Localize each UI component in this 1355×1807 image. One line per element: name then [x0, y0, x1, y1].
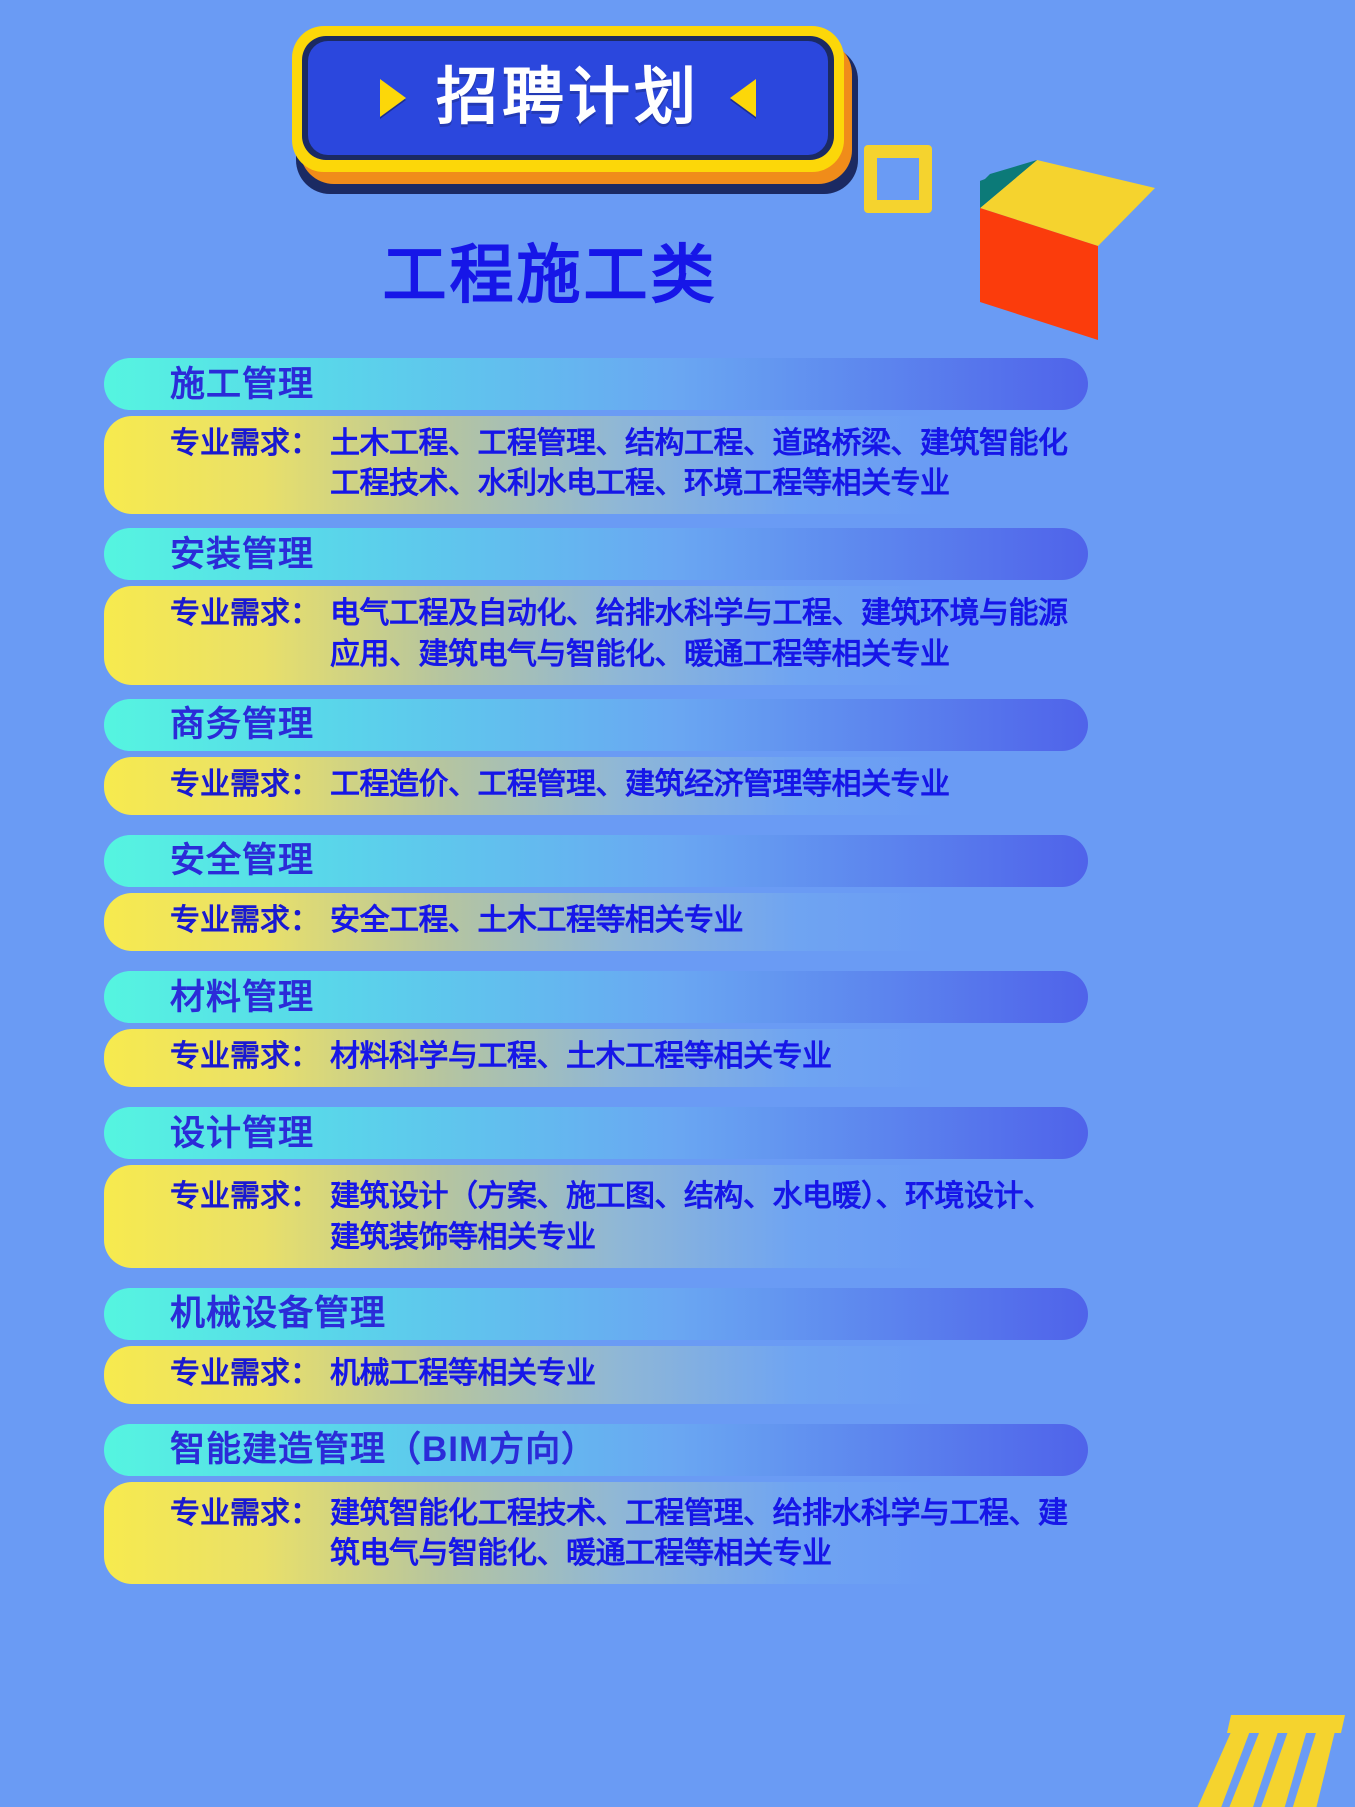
section-title: 施工管理	[170, 367, 314, 402]
requirement-label: 专业需求：	[170, 1177, 320, 1217]
section-title: 机械设备管理	[170, 1296, 386, 1331]
section-pill: 设计管理	[104, 1107, 1088, 1159]
triangle-left-icon	[730, 79, 756, 117]
requirement-majors: 建筑智能化工程技术、工程管理、给排水科学与工程、建筑电气与智能化、暖通工程等相关…	[330, 1494, 1072, 1574]
section-detail: 专业需求： 建筑设计（方案、施工图、结构、水电暖）、环境设计、建筑装饰等相关专业	[104, 1165, 1094, 1267]
badge-blue-panel: 招聘计划	[308, 41, 828, 155]
section-block: 商务管理 专业需求： 工程造价、工程管理、建筑经济管理等相关专业	[0, 699, 1355, 815]
section-pill: 安全管理	[104, 835, 1088, 887]
requirement-majors: 安全工程、土木工程等相关专业	[330, 901, 743, 941]
section-pill: 智能建造管理（BIM方向）	[104, 1424, 1088, 1476]
section-pill: 施工管理	[104, 358, 1088, 410]
badge-title: 招聘计划	[436, 67, 700, 129]
requirement-majors: 建筑设计（方案、施工图、结构、水电暖）、环境设计、建筑装饰等相关专业	[330, 1177, 1072, 1257]
requirement-majors: 材料科学与工程、土木工程等相关专业	[330, 1037, 832, 1077]
section-detail: 专业需求： 材料科学与工程、土木工程等相关专业	[104, 1029, 1094, 1087]
section-detail: 专业需求： 工程造价、工程管理、建筑经济管理等相关专业	[104, 757, 1094, 815]
section-block: 材料管理 专业需求： 材料科学与工程、土木工程等相关专业	[0, 971, 1355, 1087]
section-detail: 专业需求： 电气工程及自动化、给排水科学与工程、建筑环境与能源应用、建筑电气与智…	[104, 586, 1094, 684]
requirement-label: 专业需求：	[170, 1037, 320, 1077]
requirement-label: 专业需求：	[170, 765, 320, 805]
section-detail: 专业需求： 建筑智能化工程技术、工程管理、给排水科学与工程、建筑电气与智能化、暖…	[104, 1482, 1094, 1584]
section-title: 安全管理	[170, 843, 314, 878]
requirement-label: 专业需求：	[170, 594, 320, 634]
requirement-label: 专业需求：	[170, 901, 320, 941]
section-detail: 专业需求： 机械工程等相关专业	[104, 1346, 1094, 1404]
requirement-label: 专业需求：	[170, 424, 320, 464]
requirement-label: 专业需求：	[170, 1354, 320, 1394]
section-title: 材料管理	[170, 980, 314, 1015]
category-title: 工程施工类	[0, 240, 1100, 310]
section-title: 智能建造管理（BIM方向）	[170, 1432, 597, 1467]
section-block: 机械设备管理 专业需求： 机械工程等相关专业	[0, 1288, 1355, 1404]
triangle-right-icon	[380, 79, 406, 117]
requirement-majors: 工程造价、工程管理、建筑经济管理等相关专业	[330, 765, 950, 805]
section-title: 设计管理	[170, 1116, 314, 1151]
section-pill: 商务管理	[104, 699, 1088, 751]
section-block: 智能建造管理（BIM方向） 专业需求： 建筑智能化工程技术、工程管理、给排水科学…	[0, 1424, 1355, 1584]
requirement-label: 专业需求：	[170, 1494, 320, 1534]
section-block: 安装管理 专业需求： 电气工程及自动化、给排水科学与工程、建筑环境与能源应用、建…	[0, 528, 1355, 684]
section-title: 安装管理	[170, 537, 314, 572]
header-badge: 招聘计划	[288, 24, 858, 194]
section-block: 施工管理 专业需求： 土木工程、工程管理、结构工程、道路桥梁、建筑智能化工程技术…	[0, 358, 1355, 514]
section-detail: 专业需求： 安全工程、土木工程等相关专业	[104, 893, 1094, 951]
section-block: 安全管理 专业需求： 安全工程、土木工程等相关专业	[0, 835, 1355, 951]
section-block: 设计管理 专业需求： 建筑设计（方案、施工图、结构、水电暖）、环境设计、建筑装饰…	[0, 1107, 1355, 1267]
requirement-majors: 土木工程、工程管理、结构工程、道路桥梁、建筑智能化工程技术、水利水电工程、环境工…	[330, 424, 1072, 504]
requirement-majors: 机械工程等相关专业	[330, 1354, 596, 1394]
outlined-square-icon	[864, 145, 932, 213]
section-pill: 机械设备管理	[104, 1288, 1088, 1340]
section-pill: 安装管理	[104, 528, 1088, 580]
yellow-stripes-icon	[1135, 1663, 1355, 1807]
requirement-majors: 电气工程及自动化、给排水科学与工程、建筑环境与能源应用、建筑电气与智能化、暖通工…	[330, 594, 1072, 674]
section-detail: 专业需求： 土木工程、工程管理、结构工程、道路桥梁、建筑智能化工程技术、水利水电…	[104, 416, 1094, 514]
sections-list: 施工管理 专业需求： 土木工程、工程管理、结构工程、道路桥梁、建筑智能化工程技术…	[0, 358, 1355, 1584]
section-title: 商务管理	[170, 707, 314, 742]
section-pill: 材料管理	[104, 971, 1088, 1023]
